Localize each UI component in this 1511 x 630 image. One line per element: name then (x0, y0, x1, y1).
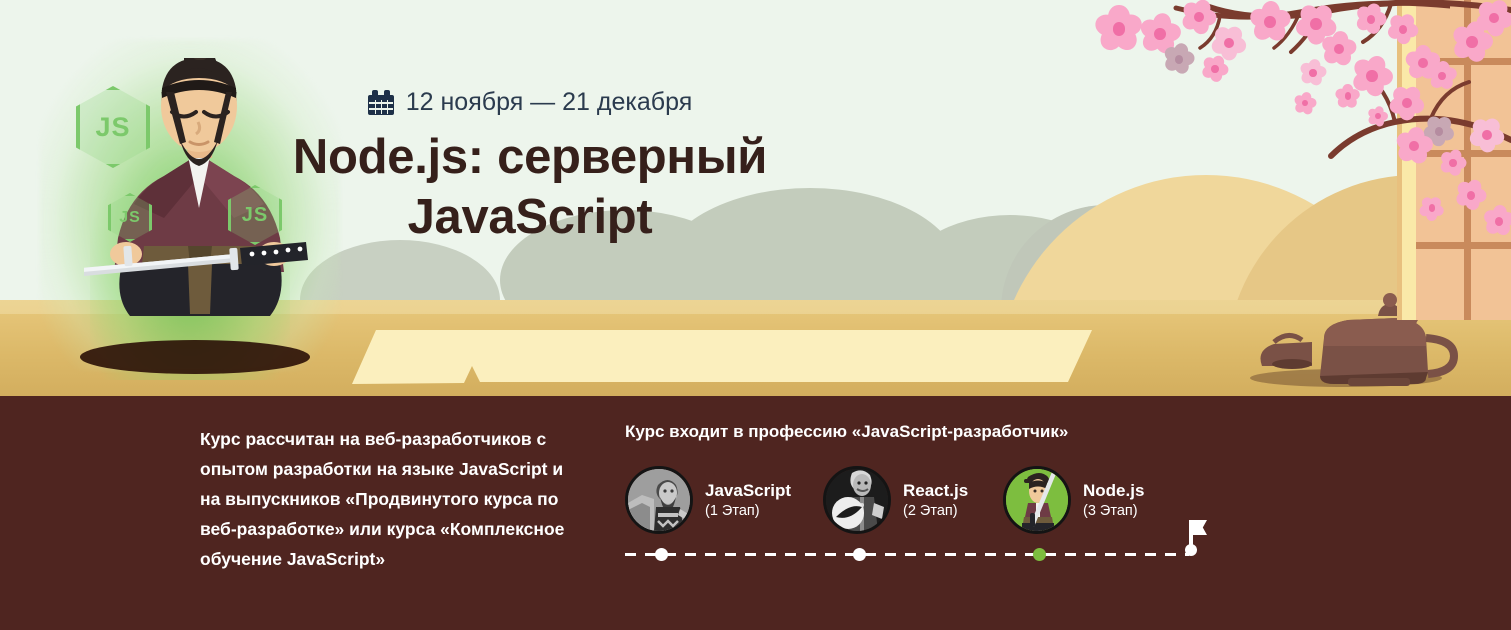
career-step-reactjs[interactable]: React.js (2 Этап) (823, 466, 968, 534)
progress-dot-2 (853, 548, 866, 561)
progress-dot-1 (655, 548, 668, 561)
step-label-group: JavaScript (1 Этап) (705, 481, 791, 520)
career-step-nodejs[interactable]: Node.js (3 Этап) (1003, 466, 1144, 534)
step-label-group: Node.js (3 Этап) (1083, 481, 1144, 520)
career-path-block: Курс входит в профессию «JavaScript-разр… (625, 422, 1225, 570)
progress-track (625, 540, 1225, 570)
step-name: JavaScript (705, 481, 791, 501)
step-name: React.js (903, 481, 968, 501)
step-stage: (3 Этап) (1083, 503, 1144, 519)
page-title-line-2: JavaScript (0, 188, 1060, 248)
step-stage: (2 Этап) (903, 503, 968, 519)
javascript-avatar (625, 466, 693, 534)
progress-dashed-line (625, 553, 1189, 556)
career-path-title: Курс входит в профессию «JavaScript-разр… (625, 422, 1225, 442)
finish-flag-icon (1181, 520, 1203, 554)
progress-dot-3-current (1033, 548, 1046, 561)
page-title: Node.js: серверный JavaScript (0, 128, 1060, 248)
step-stage: (1 Этап) (705, 503, 791, 519)
step-label-group: React.js (2 Этап) (903, 481, 968, 520)
course-info-section: Курс рассчитан на веб-разработчиков с оп… (0, 396, 1511, 630)
course-dates-text: 12 ноября — 21 декабря (406, 88, 693, 117)
reactjs-avatar (823, 466, 891, 534)
nodejs-avatar (1003, 466, 1071, 534)
course-landing-page: JS JS JS (0, 0, 1511, 630)
career-path-steps: JavaScript (1 Этап) (625, 466, 1225, 548)
page-title-line-1: Node.js: серверный (0, 128, 1060, 188)
career-step-javascript[interactable]: JavaScript (1 Этап) (625, 466, 791, 534)
calendar-icon (368, 90, 394, 115)
step-name: Node.js (1083, 481, 1144, 501)
course-description: Курс рассчитан на веб-разработчиков с оп… (200, 424, 570, 574)
course-dates: 12 ноября — 21 декабря (0, 88, 1060, 117)
